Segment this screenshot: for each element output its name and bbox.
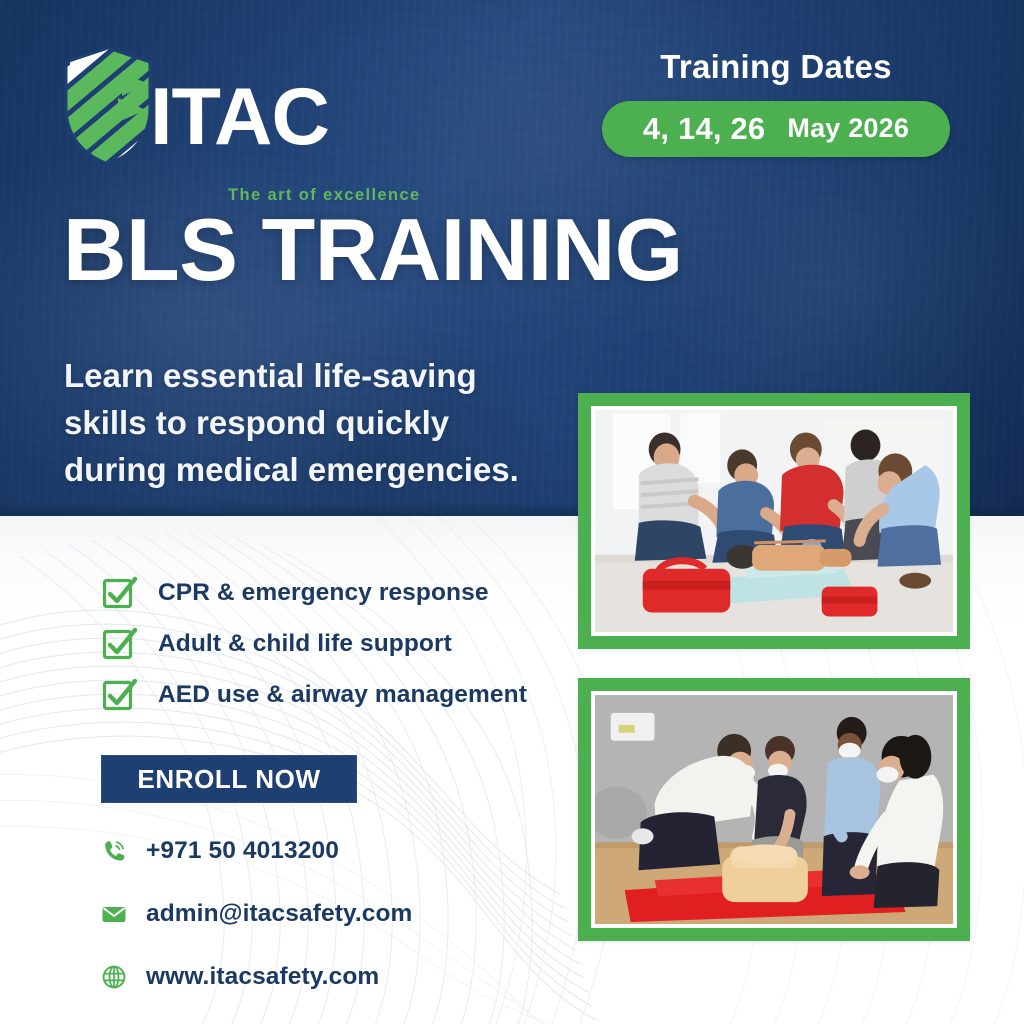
checklist-item-label: Adult & child life support xyxy=(158,630,452,658)
enroll-now-button[interactable]: ENROLL NOW xyxy=(101,755,357,803)
contact-list: +971 50 4013200 admin@itacsafety.com www… xyxy=(101,833,531,1022)
phone-icon xyxy=(101,838,127,864)
page-title: BLS TRAINING xyxy=(63,206,683,294)
checklist-item: Adult & child life support xyxy=(101,619,571,669)
checklist-item: CPR & emergency response xyxy=(101,568,571,618)
subtitle-text: Learn essential life-saving skills to re… xyxy=(64,352,584,494)
envelope-icon xyxy=(101,901,127,927)
contact-email[interactable]: admin@itacsafety.com xyxy=(101,896,531,932)
subtitle-line-3: during medical emergencies. xyxy=(64,446,584,493)
cpr-group-training-photo xyxy=(578,393,970,649)
checkbox-checked-icon xyxy=(101,575,137,611)
masked-cpr-practice-photo xyxy=(578,678,970,941)
contact-website[interactable]: www.itacsafety.com xyxy=(101,959,531,995)
contact-phone-value: +971 50 4013200 xyxy=(146,837,339,865)
training-dates-title: Training Dates xyxy=(602,48,950,87)
features-checklist: CPR & emergency response Adult & child l… xyxy=(101,568,571,721)
checklist-item-label: AED use & airway management xyxy=(158,681,527,709)
poster-canvas: ITAC The art of excellence Training Date… xyxy=(0,0,1024,1024)
checklist-item-label: CPR & emergency response xyxy=(158,579,489,607)
shield-arrows-icon xyxy=(62,46,154,166)
globe-icon xyxy=(101,964,127,990)
contact-email-value: admin@itacsafety.com xyxy=(146,900,412,928)
training-dates-days: 4, 14, 26 xyxy=(643,111,765,147)
subtitle-line-1: Learn essential life-saving xyxy=(64,352,584,399)
enroll-now-label: ENROLL NOW xyxy=(137,764,320,795)
checklist-item: AED use & airway management xyxy=(101,670,571,720)
brand-wordmark: ITAC xyxy=(150,84,329,150)
training-dates-block: Training Dates 4, 14, 26 May 2026 xyxy=(602,48,950,157)
training-dates-pill: 4, 14, 26 May 2026 xyxy=(602,101,950,157)
brand-logo[interactable]: ITAC The art of excellence xyxy=(62,46,392,168)
contact-website-value: www.itacsafety.com xyxy=(146,963,379,991)
checkbox-checked-icon xyxy=(101,626,137,662)
contact-phone[interactable]: +971 50 4013200 xyxy=(101,833,531,869)
training-dates-month: May 2026 xyxy=(787,113,909,144)
subtitle-line-2: skills to respond quickly xyxy=(64,399,584,446)
checkbox-checked-icon xyxy=(101,677,137,713)
